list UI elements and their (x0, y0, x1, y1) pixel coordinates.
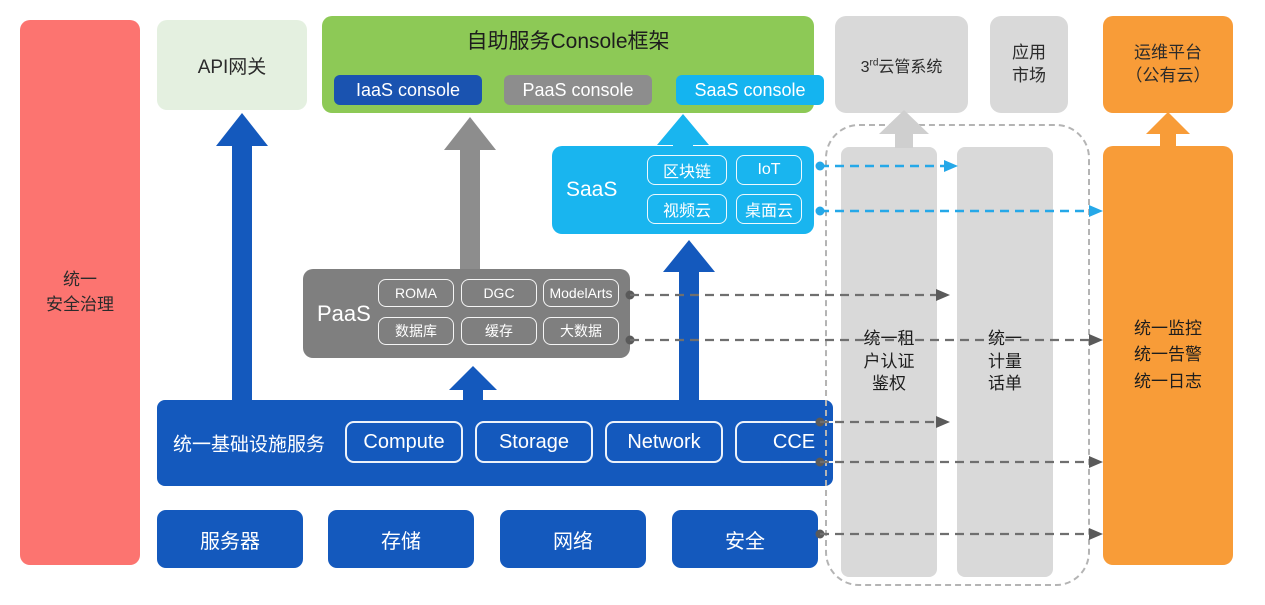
arrow-paas-to-console (444, 117, 496, 269)
paas-service-dgc[interactable]: DGC (461, 279, 537, 307)
paas-service-modelarts[interactable]: ModelArts (543, 279, 619, 307)
infra-service-compute[interactable]: Compute (345, 421, 463, 463)
saas-console-chip[interactable]: SaaS console (676, 75, 824, 105)
arrow-infra-to-saas (663, 240, 715, 402)
api-gateway-label: API网关 (198, 52, 267, 79)
paas-layer: PaaS ROMA DGC ModelArts 数据库 缓存 大数据 (303, 269, 630, 358)
resource-box-server[interactable]: 服务器 (157, 510, 303, 568)
saas-service-blockchain[interactable]: 区块链 (647, 155, 727, 185)
shared-service-tenant-auth: 统一租户认证鉴权 (841, 147, 937, 577)
paas-console-chip[interactable]: PaaS console (504, 75, 652, 105)
shared-service-metering-billing: 统一计量话单 (957, 147, 1053, 577)
third-party-cloud-management-box: 3rd云管系统 (835, 16, 968, 113)
saas-service-iot[interactable]: IoT (736, 155, 802, 185)
unified-infrastructure-layer: 统一基础设施服务 Compute Storage Network CCE (157, 400, 833, 486)
ops-platform-label: 运维平台（公有云） (1126, 42, 1211, 88)
api-gateway-box: API网关 (157, 20, 307, 110)
saas-service-video-cloud[interactable]: 视频云 (647, 194, 727, 224)
self-service-console-framework: 自助服务Console框架 IaaS console PaaS console … (322, 16, 814, 113)
paas-layer-label: PaaS (317, 301, 371, 327)
unified-infrastructure-label: 统一基础设施服务 (173, 430, 325, 457)
infra-service-storage[interactable]: Storage (475, 421, 593, 463)
app-market-box: 应用市场 (990, 16, 1068, 113)
app-market-label: 应用市场 (1012, 42, 1046, 86)
saas-layer: SaaS 区块链 IoT 视频云 桌面云 (552, 146, 814, 234)
ops-platform-public-cloud-box: 运维平台（公有云） (1103, 16, 1233, 113)
ops-platform-capabilities-label: 统一监控统一告警统一日志 (1134, 316, 1202, 395)
shared-service-tenant-auth-label: 统一租户认证鉴权 (864, 328, 915, 397)
arrow-infra-to-paas (449, 366, 497, 402)
shared-service-metering-billing-label: 统一计量话单 (988, 328, 1022, 397)
paas-service-bigdata[interactable]: 大数据 (543, 317, 619, 345)
architecture-diagram: 统一安全治理 API网关 自助服务Console框架 IaaS console … (0, 0, 1265, 605)
arrow-infra-to-api-gateway (216, 113, 268, 400)
resource-box-security[interactable]: 安全 (672, 510, 818, 568)
paas-service-roma[interactable]: ROMA (378, 279, 454, 307)
iaas-console-chip[interactable]: IaaS console (334, 75, 482, 105)
console-framework-title: 自助服务Console框架 (322, 25, 814, 55)
ops-platform-capabilities-box: 统一监控统一告警统一日志 (1103, 146, 1233, 565)
infra-service-network[interactable]: Network (605, 421, 723, 463)
unified-security-governance-label: 统一安全治理 (46, 268, 114, 317)
unified-security-governance-panel: 统一安全治理 (20, 20, 140, 565)
third-party-cloud-management-label: 3rd云管系统 (861, 53, 943, 77)
paas-service-cache[interactable]: 缓存 (461, 317, 537, 345)
resource-box-network[interactable]: 网络 (500, 510, 646, 568)
arrow-saas-to-console (657, 114, 709, 150)
paas-service-database[interactable]: 数据库 (378, 317, 454, 345)
saas-service-desktop-cloud[interactable]: 桌面云 (736, 194, 802, 224)
arrow-to-ops-platform (1146, 112, 1190, 148)
resource-box-storage[interactable]: 存储 (328, 510, 474, 568)
saas-layer-label: SaaS (566, 178, 617, 202)
